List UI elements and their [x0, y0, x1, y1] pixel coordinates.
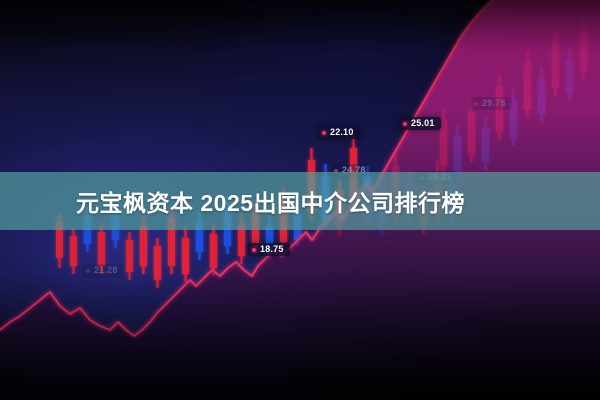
price-tag-label: 21.28 — [94, 266, 118, 275]
price-tag-dot-icon — [474, 102, 478, 106]
price-tag-2210: 22.10 — [318, 126, 360, 139]
price-tag-2975: 29.75 — [470, 97, 512, 110]
price-tag-1875: 18.75 — [248, 243, 290, 256]
price-tag-dot-icon — [252, 248, 256, 252]
page-title: 元宝枫资本 2025出国中介公司排行榜 — [76, 184, 465, 218]
price-tag-label: 22.10 — [330, 128, 354, 137]
title-band: 元宝枫资本 2025出国中介公司排行榜 — [0, 172, 600, 230]
price-tag-2128: 21.28 — [82, 264, 124, 277]
price-tag-dot-icon — [403, 122, 407, 126]
price-tag-dot-icon — [322, 131, 326, 135]
stock-chart-banner: 22.10 25.01 24.78 18.75 25.21 29.75 21.2… — [0, 0, 600, 400]
price-tag-label: 29.75 — [482, 99, 506, 108]
price-tag-2501: 25.01 — [399, 117, 441, 130]
price-tag-dot-icon — [86, 269, 90, 273]
price-tag-label: 18.75 — [260, 245, 284, 254]
price-tag-label: 25.01 — [411, 119, 435, 128]
